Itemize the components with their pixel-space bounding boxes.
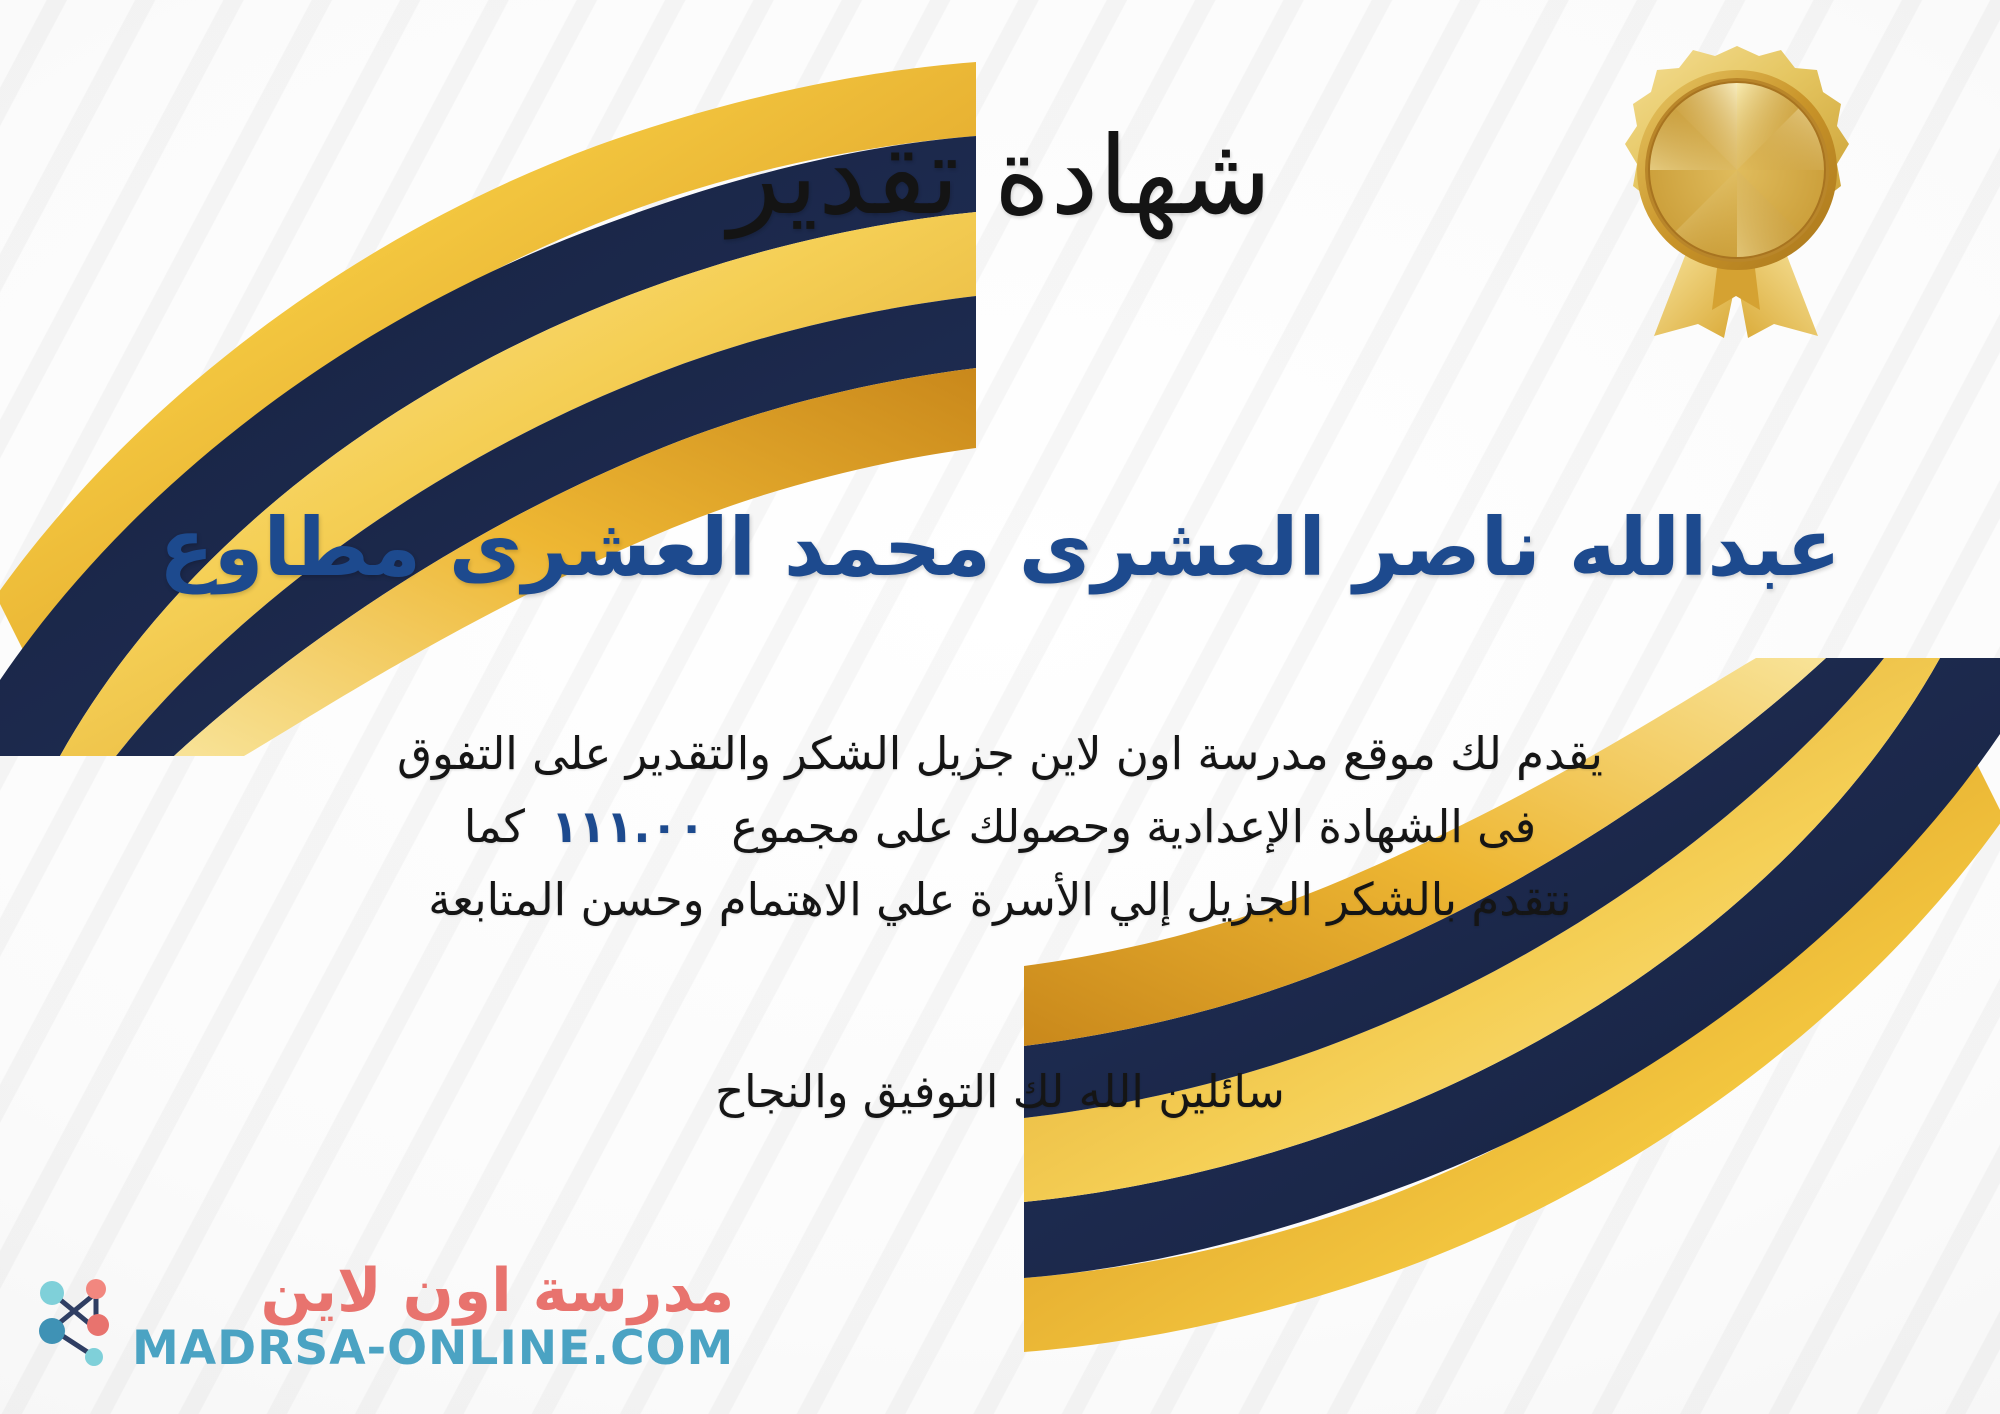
page-title: شهادة تقدير [0, 118, 2000, 237]
score-value: ١١١.٠٠ [525, 800, 731, 853]
site-logo[interactable]: مدرسة اون لاين MADRSA-ONLINE.COM [26, 1261, 734, 1372]
body-line-3: نتقدم بالشكر الجزيل إلي الأسرة علي الاهت… [150, 864, 1850, 937]
certificate-content: شهادة تقدير عبدالله ناصر العشرى محمد الع… [0, 0, 2000, 1414]
body-line-2: فى الشهادة الإعدادية وحصولك على مجموع١١١… [150, 791, 1850, 864]
certificate-body: يقدم لك موقع مدرسة اون لاين جزيل الشكر و… [150, 718, 1850, 937]
body-line-2-suffix: كما [464, 800, 525, 853]
closing-line: سائلين الله لك التوفيق والنجاح [0, 1065, 2000, 1118]
network-nodes-icon [26, 1267, 122, 1367]
logo-arabic-name: مدرسة اون لاين [261, 1261, 735, 1321]
recipient-name: عبدالله ناصر العشرى محمد العشرى مطاوع [0, 502, 2000, 594]
body-line-1: يقدم لك موقع مدرسة اون لاين جزيل الشكر و… [150, 718, 1850, 791]
body-line-2-prefix: فى الشهادة الإعدادية وحصولك على مجموع [731, 800, 1536, 853]
certificate-canvas: شهادة تقدير عبدالله ناصر العشرى محمد الع… [0, 0, 2000, 1414]
logo-website: MADRSA-ONLINE.COM [132, 1325, 734, 1372]
